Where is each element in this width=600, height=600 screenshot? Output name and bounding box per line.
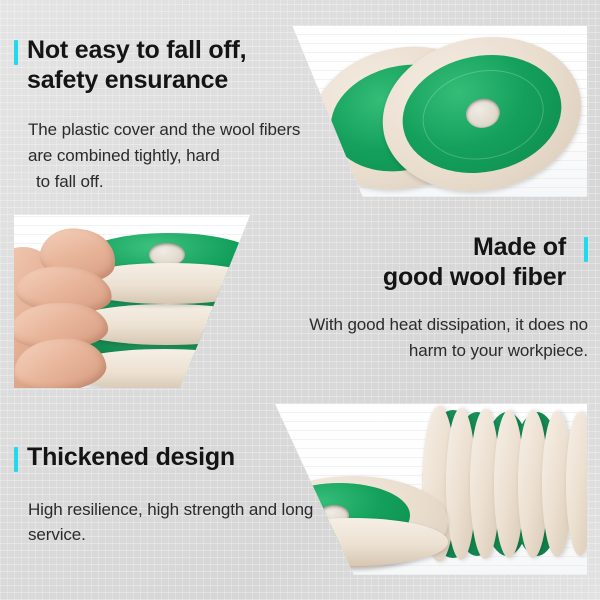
- heading-line-1: Not easy to fall off,: [27, 36, 246, 64]
- feature-body: High resilience, high strength and long …: [28, 497, 314, 549]
- heading-line-1: Thickened design: [27, 443, 235, 471]
- feature-heading: Made of good wool fiber: [383, 233, 566, 292]
- feature-body: With good heat dissipation, it does no h…: [278, 312, 588, 364]
- hand-holding-discs: [14, 229, 140, 388]
- polishing-disc-front: [369, 26, 587, 197]
- feature-text-thickened: Thickened design High resilience, high s…: [14, 443, 314, 548]
- body-line-3: to fall off.: [28, 169, 314, 195]
- feature-text-safety: Not easy to fall off, safety ensurance T…: [14, 36, 314, 194]
- product-photo-safety: [288, 26, 587, 197]
- feature-text-wool-fiber: Made of good wool fiber With good heat d…: [278, 233, 588, 364]
- accent-bar-icon: [14, 40, 18, 65]
- heading-row: Made of good wool fiber: [278, 233, 588, 292]
- feature-heading: Not easy to fall off, safety ensurance: [27, 36, 246, 95]
- feature-heading: Thickened design: [27, 443, 235, 473]
- standing-disc: [566, 412, 587, 556]
- accent-bar-icon: [584, 237, 588, 262]
- body-line-1: With good heat dissipation, it: [309, 315, 523, 334]
- heading-line-2: good wool fiber: [383, 263, 566, 293]
- feature-body: The plastic cover and the wool fibers ar…: [28, 117, 314, 194]
- product-infographic: Not easy to fall off, safety ensurance T…: [0, 0, 600, 600]
- heading-line-2: safety ensurance: [27, 66, 246, 96]
- body-line-1: The plastic cover and the wool: [28, 120, 255, 139]
- heading-line-1: Made of: [473, 233, 566, 261]
- accent-bar-icon: [14, 447, 18, 472]
- product-photo-thickened: [272, 404, 587, 575]
- heading-row: Not easy to fall off, safety ensurance: [14, 36, 314, 95]
- body-line-1: High resilience, high strength: [28, 500, 244, 519]
- product-photo-wool-fiber: [14, 215, 311, 388]
- heading-row: Thickened design: [14, 443, 314, 473]
